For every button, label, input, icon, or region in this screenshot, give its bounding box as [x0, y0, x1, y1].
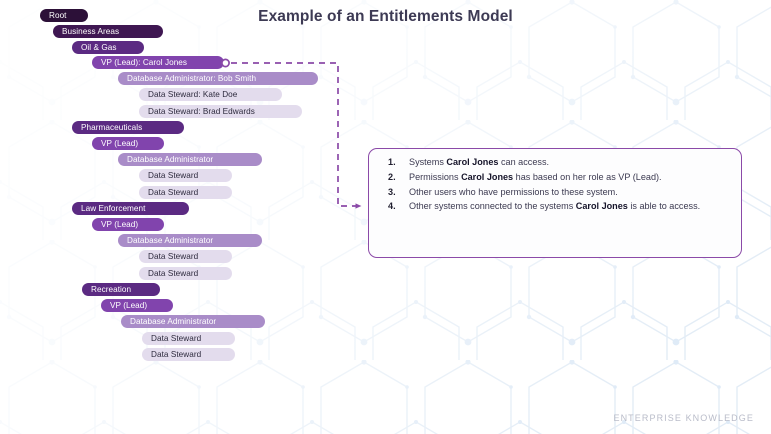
- tree-node-pill[interactable]: Database Administrator: Bob Smith: [118, 72, 318, 85]
- callout-box: Systems Carol Jones can access.Permissio…: [368, 148, 742, 258]
- callout-list: Systems Carol Jones can access.Permissio…: [379, 156, 729, 213]
- body-text: Systems: [409, 157, 446, 167]
- callout-list-item: Systems Carol Jones can access.: [379, 156, 729, 169]
- body-text: can access.: [498, 157, 549, 167]
- tree-node-pill[interactable]: Oil & Gas: [72, 41, 144, 54]
- tree-node-pill[interactable]: VP (Lead): [92, 218, 164, 231]
- tree-node-pill[interactable]: Law Enforcement: [72, 202, 189, 215]
- tree-node-pill[interactable]: VP (Lead): [92, 137, 164, 150]
- slide-canvas: Example of an Entitlements Model RootBus…: [0, 0, 771, 434]
- brand-footer: ENTERPRISE KNOWLEDGE: [613, 413, 754, 423]
- tree-node-pill[interactable]: Data Steward: Brad Edwards: [139, 105, 302, 118]
- tree-node-pill[interactable]: Database Administrator: [118, 153, 262, 166]
- emphasis-text: Carol Jones: [461, 172, 513, 182]
- tree-node-pill[interactable]: VP (Lead): [101, 299, 173, 312]
- tree-node-pill[interactable]: Data Steward: [139, 186, 232, 199]
- body-text: is able to access.: [628, 201, 700, 211]
- tree-node-pill[interactable]: VP (Lead): Carol Jones: [92, 56, 224, 69]
- emphasis-text: Carol Jones: [446, 157, 498, 167]
- tree-node-pill[interactable]: Database Administrator: [118, 234, 262, 247]
- body-text: Other users who have permissions to thes…: [409, 187, 618, 197]
- body-text: Other systems connected to the systems: [409, 201, 576, 211]
- tree-node-pill[interactable]: Data Steward: [142, 348, 235, 361]
- tree-node-pill[interactable]: Data Steward: Kate Doe: [139, 88, 282, 101]
- tree-node-pill[interactable]: Data Steward: [142, 332, 235, 345]
- body-text: has based on her role as VP (Lead).: [513, 172, 661, 182]
- callout-list-item: Other users who have permissions to thes…: [379, 186, 729, 199]
- tree-node-pill[interactable]: Data Steward: [139, 267, 232, 280]
- tree-node-pill[interactable]: Recreation: [82, 283, 160, 296]
- tree-node-pill[interactable]: Business Areas: [53, 25, 163, 38]
- tree-node-pill[interactable]: Pharmaceuticals: [72, 121, 184, 134]
- tree-node-pill[interactable]: Data Steward: [139, 250, 232, 263]
- body-text: Permissions: [409, 172, 461, 182]
- callout-list-item: Permissions Carol Jones has based on her…: [379, 171, 729, 184]
- callout-list-item: Other systems connected to the systems C…: [379, 200, 729, 213]
- emphasis-text: Carol Jones: [576, 201, 628, 211]
- tree-node-pill[interactable]: Data Steward: [139, 169, 232, 182]
- tree-node-pill[interactable]: Database Administrator: [121, 315, 265, 328]
- page-title: Example of an Entitlements Model: [0, 8, 771, 26]
